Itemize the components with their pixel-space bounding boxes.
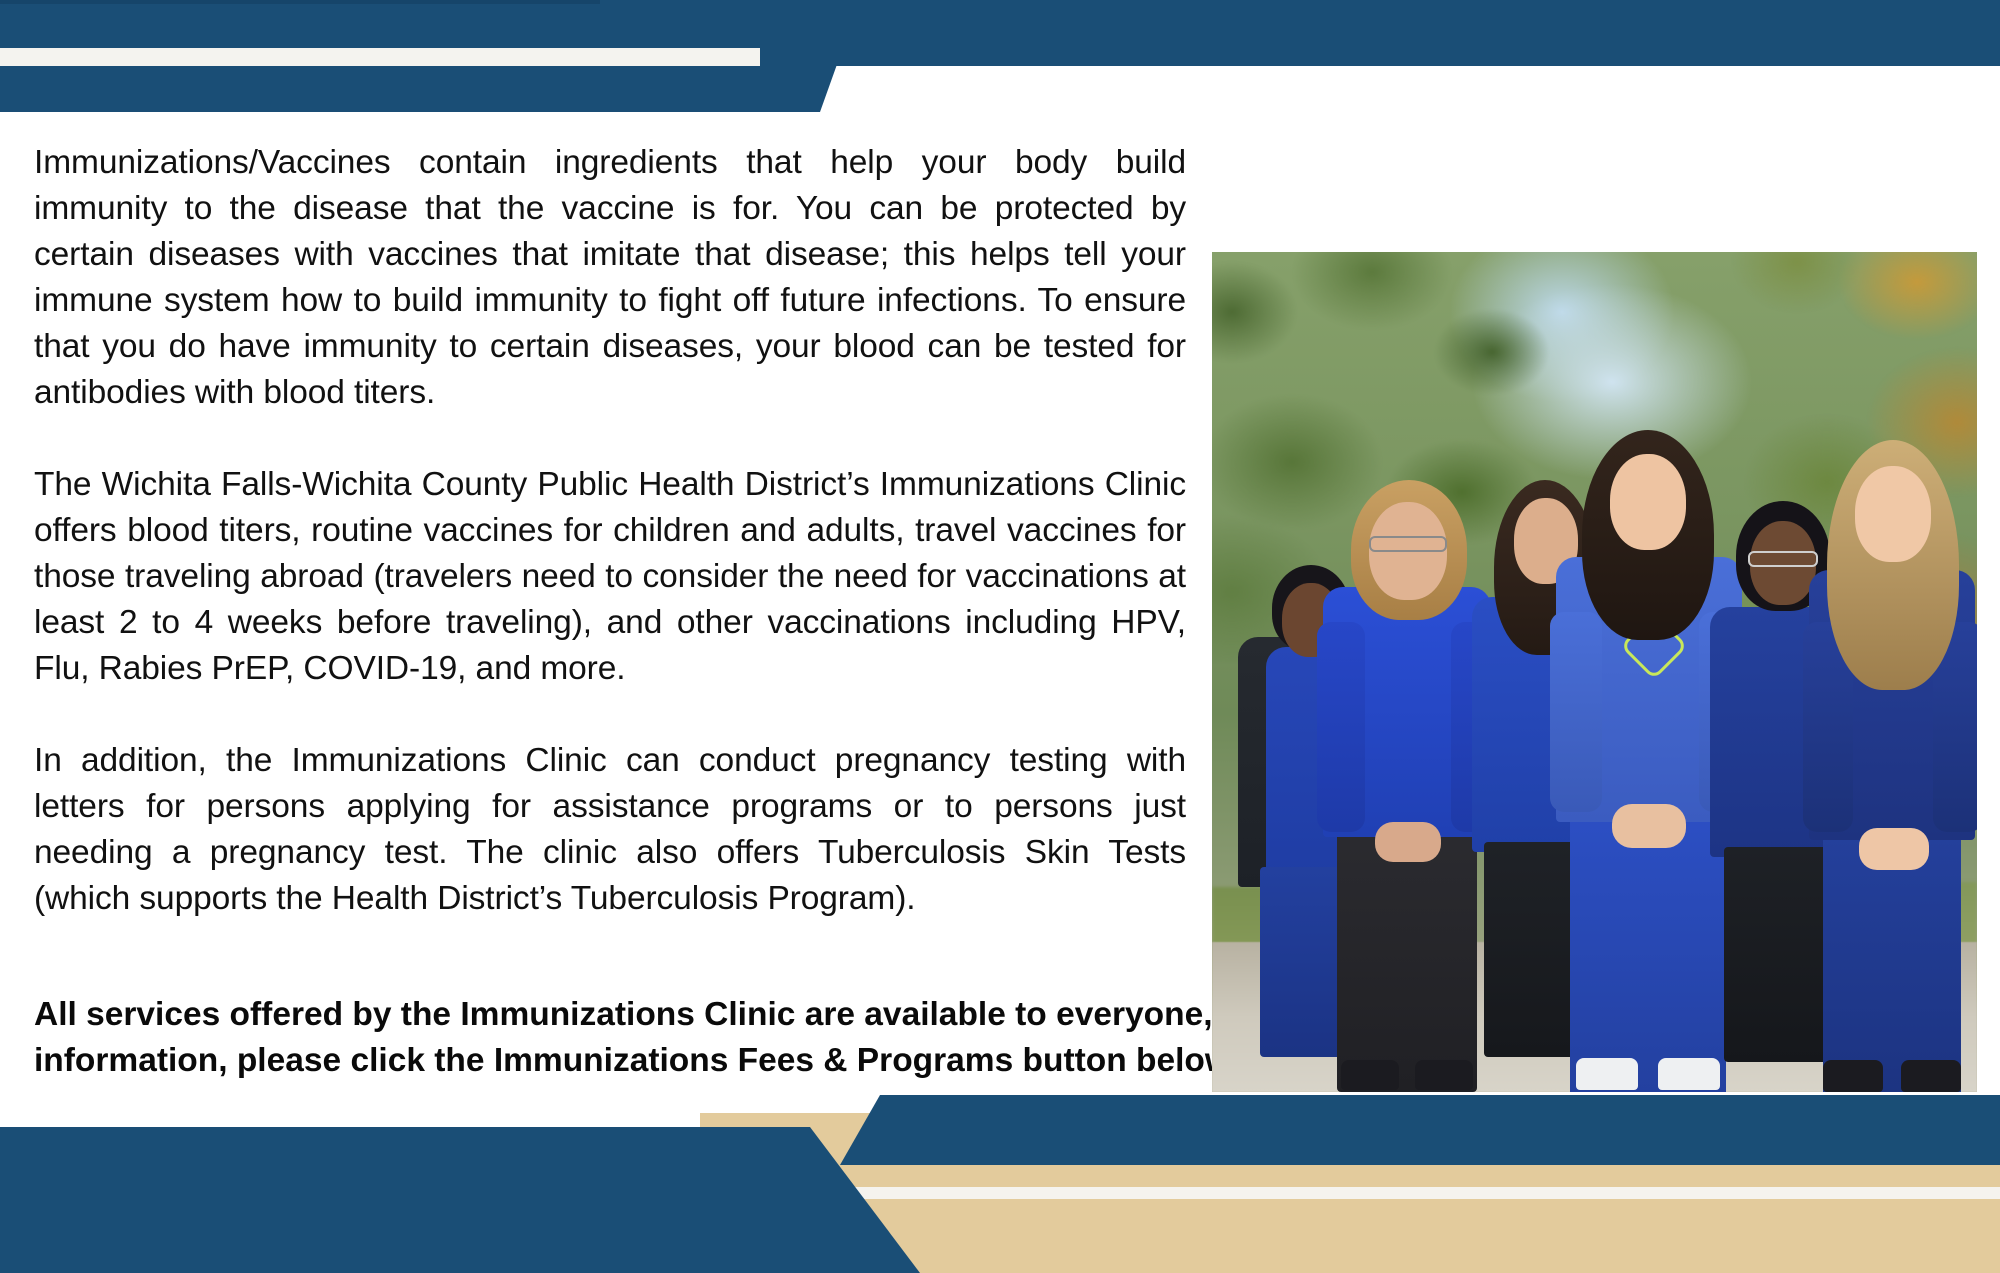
staff-4-shoe-right <box>1658 1058 1720 1090</box>
bottom-banner-tan-shape <box>0 1113 2000 1273</box>
staff-2-pants <box>1337 822 1477 1092</box>
staff-2-shoe-left <box>1341 1060 1399 1090</box>
paragraph-vaccine-basics: Immunizations/Vaccines contain ingredien… <box>34 140 1186 416</box>
paragraph-clinic-services: The Wichita Falls-Wichita County Public … <box>34 462 1186 692</box>
staff-6-shoe-right <box>1901 1060 1961 1092</box>
bottom-banner-white-stripe <box>840 1187 2000 1199</box>
staff-6-face <box>1855 466 1931 562</box>
photo-background <box>1212 252 1977 1092</box>
staff-2-hands <box>1375 822 1441 862</box>
staff-4-shoe-left <box>1576 1058 1638 1090</box>
staff-member-6 <box>1797 392 1977 1092</box>
staff-2-glasses <box>1369 536 1447 552</box>
bottom-banner-blue-left-shape <box>0 1127 960 1273</box>
staff-2-arm-left <box>1317 622 1365 832</box>
top-banner-white-stripe <box>0 48 760 66</box>
staff-6-shoe-left <box>1823 1060 1883 1092</box>
staff-4-face <box>1610 454 1686 550</box>
paragraph-pregnancy-tb: In addition, the Immunizations Clinic ca… <box>34 738 1186 922</box>
body-text-column: Immunizations/Vaccines contain ingredien… <box>34 140 1186 922</box>
bottom-banner-blue-right-shape <box>840 1095 2000 1165</box>
staff-6-hands <box>1859 828 1929 870</box>
staff-6-pants <box>1823 832 1961 1092</box>
staff-4-arm-left <box>1550 612 1602 812</box>
click-buttons-callout: Click buttons below for more information <box>34 1207 660 1244</box>
top-banner-blue-shape <box>0 0 860 112</box>
staff-4-hands <box>1612 804 1686 848</box>
top-decorative-banner <box>0 0 2000 112</box>
staff-2-shoe-right <box>1415 1060 1473 1090</box>
top-banner-edge-line <box>0 0 600 4</box>
immunizations-clinic-staff-photo <box>1212 252 1977 1092</box>
top-banner-blue-bar <box>0 0 2000 66</box>
